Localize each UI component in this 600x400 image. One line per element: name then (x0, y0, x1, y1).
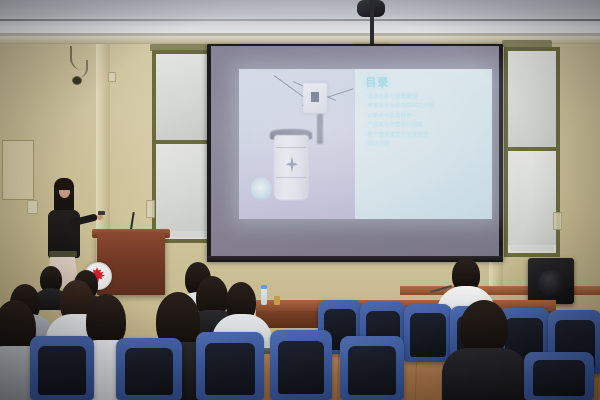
paper-cup (274, 296, 280, 305)
slide-agenda-item: 竞争对手分析与SWOT分析 (363, 104, 486, 109)
power-outlet[interactable] (27, 200, 38, 214)
slide-agenda-list: 市场分析与前景展望 竞争对手分析与SWOT分析 创新点与研发特色 产品定位与营销… (363, 95, 486, 147)
window-right-pane-top (508, 51, 556, 147)
window-left-latch-icon (146, 200, 155, 218)
chair[interactable] (116, 338, 182, 400)
slide-photo-string-3 (274, 75, 307, 99)
slide-agenda-item: 产品定位与营销化构建 (363, 123, 486, 128)
slide-photo (239, 69, 355, 219)
pa-speaker-cone-icon (538, 270, 564, 296)
ceiling (0, 0, 600, 36)
slide-photo-cup-text-line-2 (276, 177, 306, 178)
slide-agenda-item: 市场分析与前景展望 (363, 95, 486, 100)
remote-clicker-icon (98, 211, 105, 215)
ceiling-seam (0, 19, 600, 21)
window-right-latch-icon (553, 212, 562, 230)
window-right[interactable] (504, 47, 560, 257)
slide-title: 目录 (365, 78, 486, 89)
audience-shoulders (442, 348, 528, 400)
window-left-pane-top (156, 54, 211, 140)
projected-slide: 目录 市场分析与前景展望 竞争对手分析与SWOT分析 创新点与研发特色 产品定位… (239, 69, 492, 219)
slide-photo-hang-tag (317, 114, 323, 144)
wall-sensor-icon (108, 72, 116, 82)
chair[interactable] (270, 330, 332, 400)
lecture-hall-photo: 目录 市场分析与前景展望 竞争对手分析与SWOT分析 创新点与研发特色 产品定位… (0, 0, 600, 400)
slide-agenda-item: 创新点与研发特色 (363, 114, 486, 119)
slide-agenda-item: 客户营销模式与未来展望 (363, 133, 486, 138)
chair[interactable] (340, 336, 404, 400)
slide-photo-flower (251, 177, 272, 201)
window-right-pane-bottom (508, 151, 556, 245)
water-bottle (261, 288, 267, 305)
water-bottle-cap-icon (261, 285, 267, 289)
ceiling-speaker-icon (72, 76, 82, 85)
slide-agenda-item: 团队介绍 (363, 142, 486, 147)
presenter-belt (49, 251, 77, 257)
chair[interactable] (404, 304, 452, 362)
presenter-hair-front (54, 178, 74, 190)
window-right-header (502, 40, 552, 47)
slide-photo-cup-text-line (276, 147, 306, 148)
chair[interactable] (524, 352, 594, 400)
window-left[interactable] (152, 50, 215, 243)
slide-photo-sachet-label-icon (311, 92, 319, 103)
projector-mount-pole (370, 0, 374, 46)
window-left-pane-bottom (156, 144, 211, 231)
chair[interactable] (196, 332, 264, 400)
chair[interactable] (30, 336, 94, 400)
slide-text-column: 目录 市场分析与前景展望 竞争对手分析与SWOT分析 创新点与研发特色 产品定位… (355, 69, 492, 219)
wall-panel (2, 140, 34, 200)
